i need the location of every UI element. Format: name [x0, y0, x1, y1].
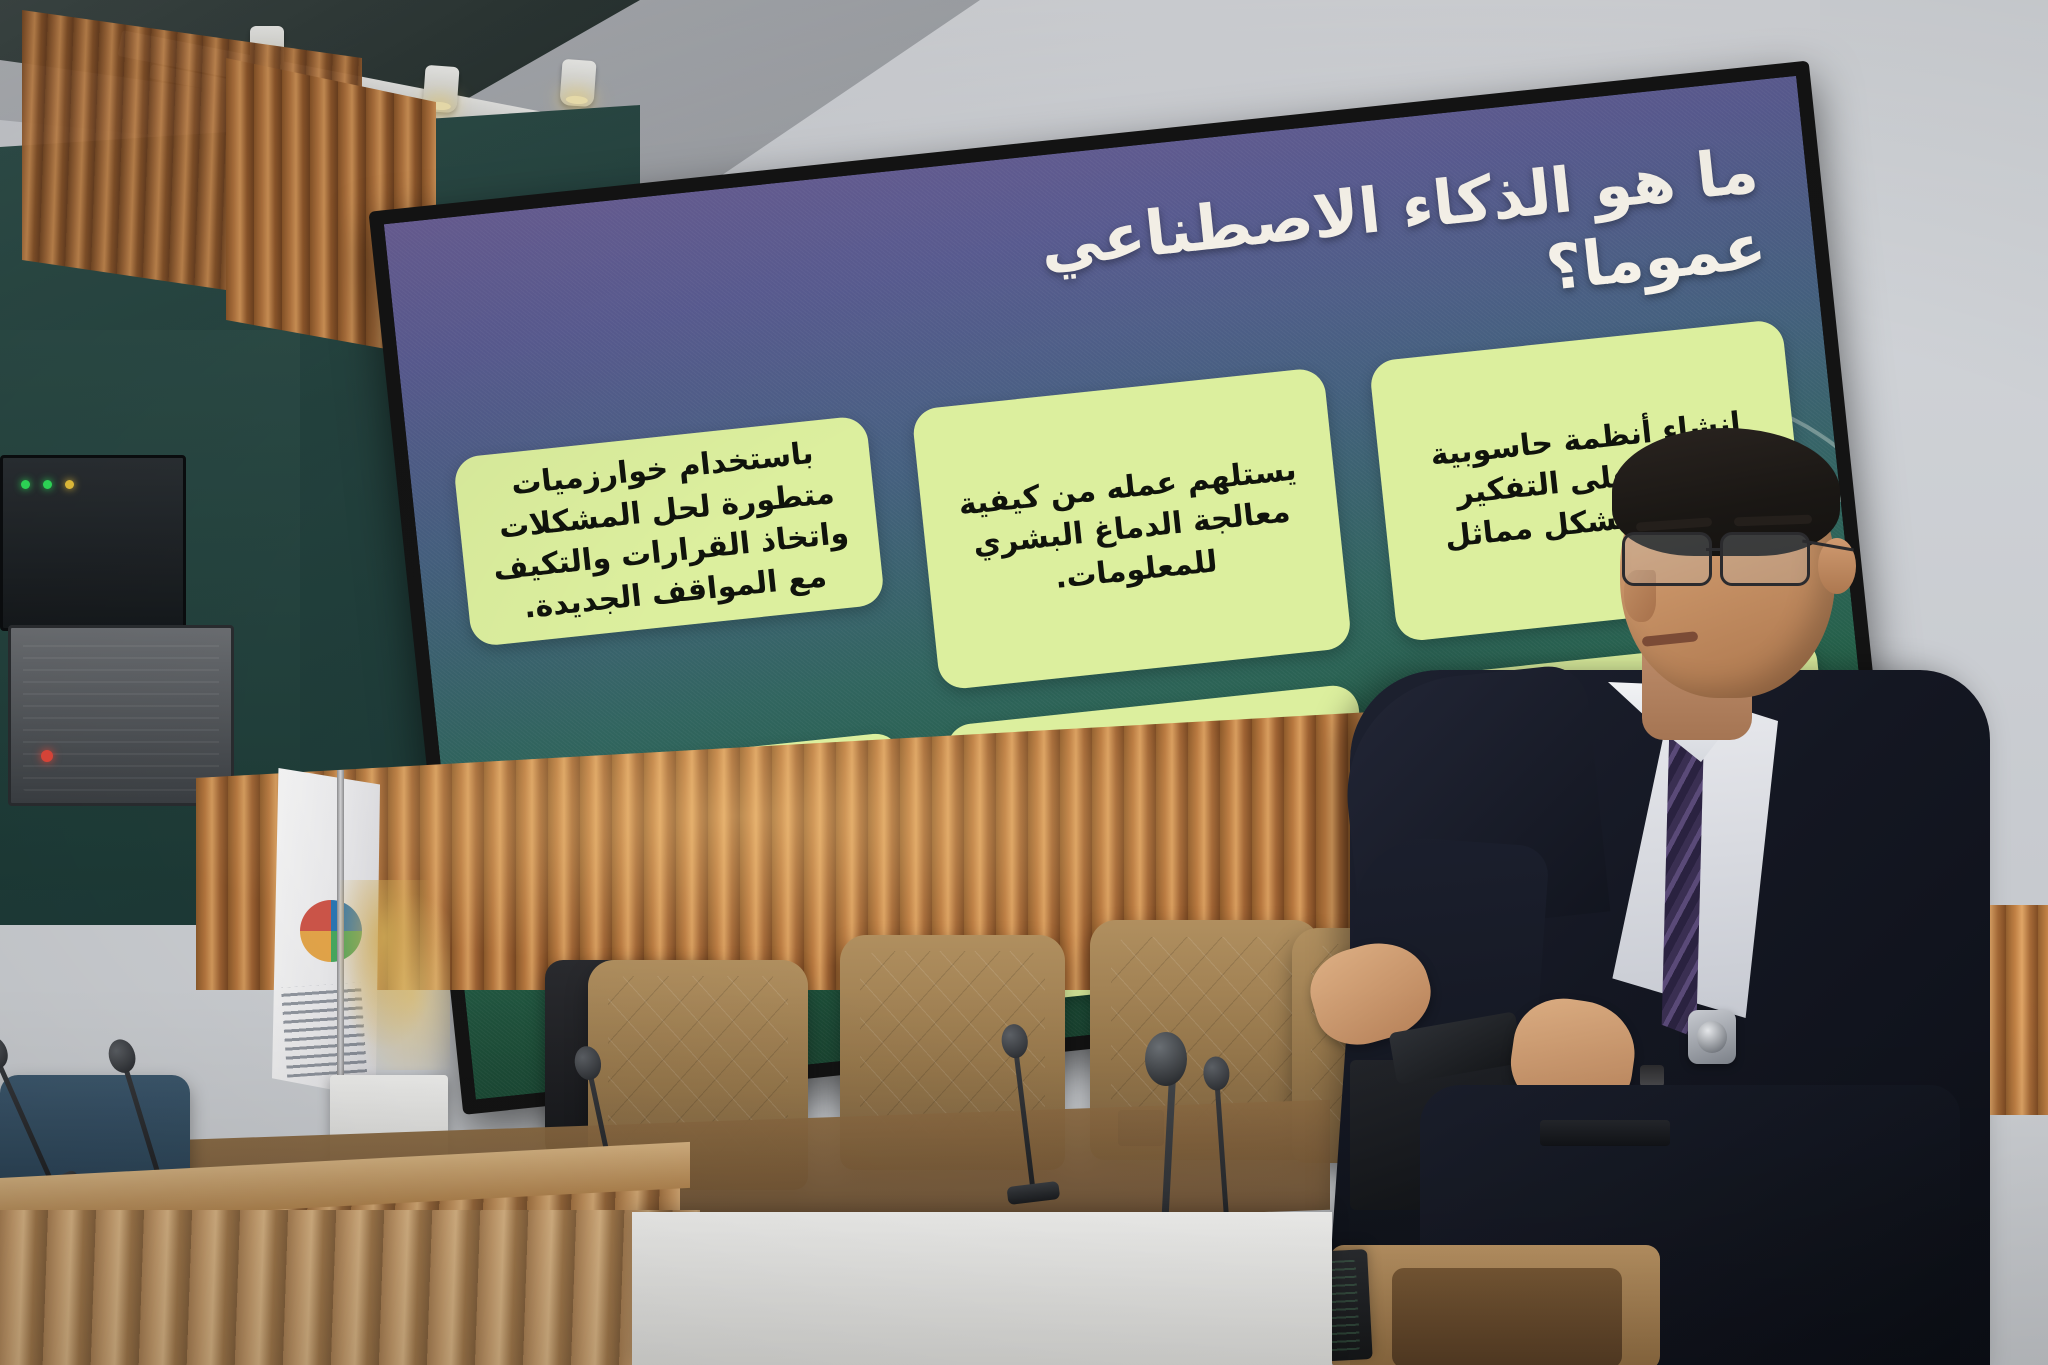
brown-seat — [1392, 1268, 1622, 1365]
mic-head — [105, 1036, 140, 1076]
ceiling-spotlight — [559, 59, 596, 107]
status-led — [43, 480, 52, 489]
status-led — [21, 480, 30, 489]
eyeglass-bridge — [1706, 548, 1722, 551]
eyeglass-lens — [1720, 532, 1810, 586]
presenter-belt — [1540, 1120, 1670, 1146]
mic-head — [1145, 1032, 1187, 1086]
conference-room-photo: ما هو الذكاء الاصطناعي عموما؟ إنشاء أنظم… — [0, 0, 2048, 1365]
eyeglass-lens — [1622, 532, 1712, 586]
power-led — [41, 750, 53, 762]
white-podium-desk — [632, 1212, 1332, 1365]
wristwatch — [1688, 1010, 1736, 1064]
status-led — [65, 480, 74, 489]
mic-head — [0, 1032, 13, 1074]
eyeglasses-icon — [1620, 532, 1830, 584]
slide-card: باستخدام خوارزميات متطورة لحل المشكلات و… — [453, 415, 885, 647]
av-equipment-rack — [0, 455, 186, 631]
rack-panel — [23, 640, 219, 791]
stage-floor — [0, 1210, 700, 1365]
gold-floral-decoration — [340, 880, 450, 1070]
slide-card: يستلهم عمله من كيفية معالجة الدماغ البشر… — [911, 367, 1353, 691]
finger-ring — [1640, 1065, 1664, 1087]
